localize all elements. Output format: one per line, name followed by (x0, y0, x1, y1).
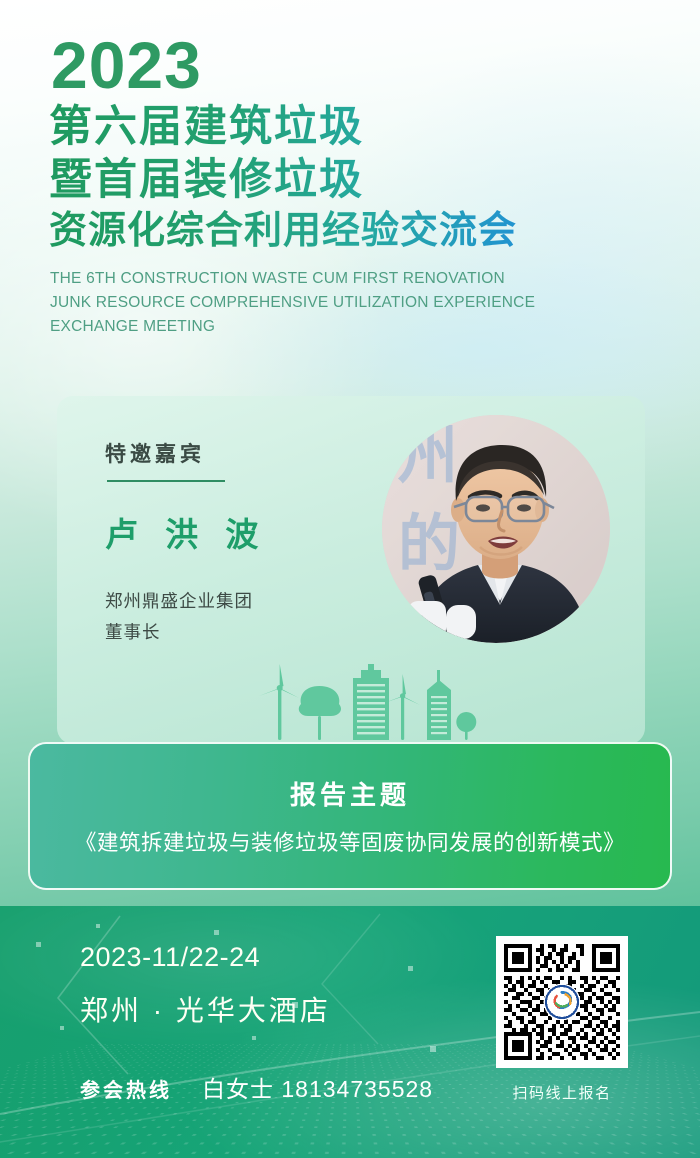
event-date: 2023-11/22-24 (80, 942, 331, 973)
qr-caption: 扫码线上报名 (496, 1082, 628, 1103)
qr-center-logo (544, 984, 581, 1021)
guest-organization: 郑州鼎盛企业集团 (105, 586, 405, 617)
guest-card: 特邀嘉宾 卢 洪 波 郑州鼎盛企业集团 董事长 (57, 396, 645, 744)
guest-affiliation: 郑州鼎盛企业集团 董事长 (105, 586, 405, 648)
hotline-contact: 白女士 18134735528 (202, 1070, 433, 1104)
year-heading: 2023 (51, 34, 657, 97)
title-line-3: 资源化综合利用经验交流会 (49, 208, 657, 254)
english-subtitle-line-2: JUNK RESOURCE COMPREHENSIVE UTILIZATION … (50, 291, 657, 315)
hotline-label: 参会热线 (80, 1074, 172, 1103)
report-theme-heading: 报告主题 (290, 775, 410, 812)
title-line-2: 暨首届装修垃圾 (49, 154, 657, 206)
english-subtitle-line-3: EXCHANGE MEETING (50, 315, 657, 339)
poster-header: 2023 第六届建筑垃圾 暨首届装修垃圾 资源化综合利用经验交流会 THE 6T… (47, 34, 657, 339)
guest-details: 特邀嘉宾 卢 洪 波 郑州鼎盛企业集团 董事长 (105, 438, 405, 648)
qr-registration[interactable]: 扫码线上报名 (496, 936, 628, 1103)
event-venue: 郑州 · 光华大酒店 (80, 989, 331, 1029)
guest-position: 董事长 (105, 617, 405, 648)
event-hotline: 参会热线 白女士 18134735528 (80, 1070, 433, 1104)
english-subtitle-line-1: THE 6TH CONSTRUCTION WASTE CUM FIRST REN… (50, 267, 657, 291)
event-poster: 2023 第六届建筑垃圾 暨首届装修垃圾 资源化综合利用经验交流会 THE 6T… (0, 0, 700, 1158)
english-subtitle: THE 6TH CONSTRUCTION WASTE CUM FIRST REN… (50, 267, 657, 339)
guest-divider (107, 480, 225, 482)
event-date-venue: 2023-11/22-24 郑州 · 光华大酒店 (80, 942, 331, 1029)
eco-city-skyline-illustration (247, 662, 477, 744)
report-theme-subject: 《建筑拆建垃圾与装修垃圾等固废协同发展的创新模式》 (75, 826, 625, 857)
guest-label: 特邀嘉宾 (105, 438, 405, 468)
qr-code-icon[interactable] (496, 936, 628, 1068)
guest-name: 卢 洪 波 (105, 508, 405, 556)
event-footer: 2023-11/22-24 郑州 · 光华大酒店 参会热线 白女士 181347… (0, 906, 700, 1158)
guest-portrait: 州 的 (382, 415, 610, 643)
title-line-1: 第六届建筑垃圾 (49, 101, 657, 153)
report-theme-banner: 报告主题 《建筑拆建垃圾与装修垃圾等固废协同发展的创新模式》 (28, 742, 672, 890)
